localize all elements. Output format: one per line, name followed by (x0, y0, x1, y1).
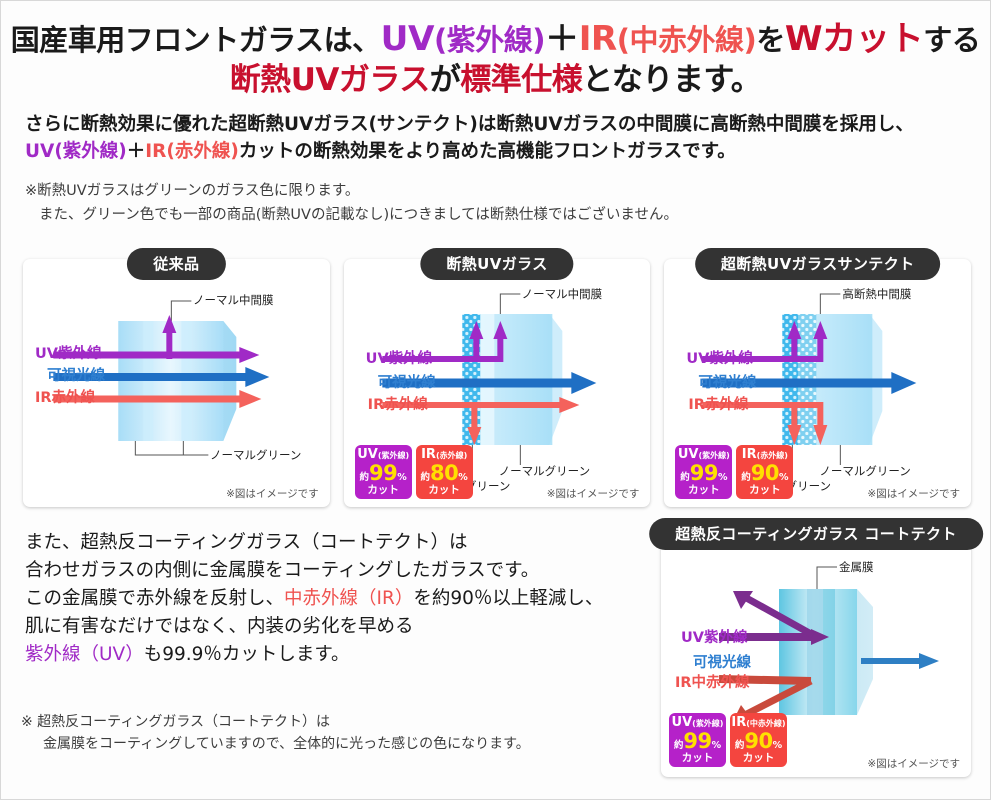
coattect-line-2: 合わせガラスの内側に金属膜をコーティングしたガラスです。 (25, 557, 655, 585)
badge-uv-head-suntect: UV(紫外線) (675, 448, 732, 461)
badge-ir-suntect: IR(赤外線) 約90% カット (736, 445, 793, 500)
coattect-description: また、超熱反コーティングガラス（コートテクト）は 合わせガラスの内側に金属膜をコ… (25, 529, 655, 670)
card-suntect: 超断熱UVガラスサンテクト (664, 259, 971, 507)
headline-line-1-run-7: Wカット (785, 19, 923, 59)
top-note-line-1: ※断熱UVガラスはグリーンのガラス色に限ります。 (25, 183, 359, 199)
headline-line-1-run-0: 国産車用フロントガラスは、 (11, 23, 381, 57)
badges-suntect: UV(紫外線) 約99% カット IR(赤外線) 約90% カット (675, 445, 793, 500)
badge-uv-value-uvcut: 約99% (355, 463, 412, 484)
label-visible-coattect: 可視光線 (693, 651, 751, 672)
subhead-ir-term: IR(赤外線) (145, 141, 239, 162)
label-high-interlayer-suntect: 高断熱中間膜 (842, 286, 911, 302)
badge-ir-uvcut: IR(赤外線) 約80% カット (416, 445, 473, 500)
badge-uv-bottom-coattect: カット (669, 753, 726, 764)
top-note-line-2: また、グリーン色でも一部の商品(断熱UVの記載なし)につきましては断熱仕様ではご… (25, 204, 990, 228)
badge-uv-uvcut: UV(紫外線) 約99% カット (355, 445, 412, 500)
headline-line-1-run-5: (中赤外線) (617, 23, 757, 57)
subhead-rest: カットの断熱効果をより高めた高機能フロントガラスです。 (239, 141, 736, 162)
subhead: さらに断熱効果に優れた超断熱UVガラス(サンテクト)は断熱UVガラスの中間膜に高… (25, 112, 990, 166)
headline-line-2-run-3: となります。 (582, 62, 761, 98)
label-uv-coattect: UV紫外線 (681, 626, 748, 647)
headline-line-1-run-4: IR (579, 19, 617, 59)
coattect-line-5: 紫外線（UV）も99.9％カットします。 (25, 641, 655, 669)
coattect-note: ※ 超熱反コーティングガラス（コートテクト）は 金属膜をコーティングしていますの… (21, 711, 530, 756)
top-note: ※断熱UVガラスはグリーンのガラス色に限ります。 また、グリーン色でも一部の商品… (25, 180, 990, 228)
label-visible-uvcut: 可視光線 (378, 371, 436, 392)
coattect-note-line-2: 金属膜をコーティングしていますので、全体的に光った感じの色になります。 (21, 733, 530, 755)
badge-ir-head-uvcut: IR(赤外線) (416, 448, 473, 461)
coattect-line-1: また、超熱反コーティングガラス（コートテクト）は (25, 529, 655, 557)
label-normal-interlayer-uvcut: ノーマル中間膜 (522, 286, 603, 302)
badge-ir-head-suntect: IR(赤外線) (736, 448, 793, 461)
image-note-uvcut: ※図はイメージです (547, 486, 640, 501)
badges-uvcut: UV(紫外線) 約99% カット IR(赤外線) 約80% カット (355, 445, 473, 500)
badge-uv-coattect: UV(紫外線) 約99% カット (669, 713, 726, 768)
headline-line-1-run-2: (紫外線) (434, 23, 545, 57)
badge-ir-value-coattect: 約90% (730, 731, 787, 752)
headline-line-2-run-0: 断熱UVガラス (230, 62, 430, 98)
headline-line-1-run-8: する (923, 23, 980, 57)
headline-line-1-run-6: を (756, 23, 785, 57)
card-conventional: 従来品 (23, 259, 330, 507)
subhead-line-2: UV(紫外線)＋IR(赤外線)カットの断熱効果をより高めた高機能フロントガラスで… (25, 139, 990, 166)
coattect-line-3: この金属膜で赤外線を反射し、中赤外線（IR）を約90％以上軽減し、 (25, 585, 655, 613)
label-uv-uvcut: UV紫外線 (366, 347, 433, 368)
badge-uv-bottom-uvcut: カット (355, 485, 412, 496)
comparison-cards: 従来品 (23, 259, 971, 507)
subhead-line-1: さらに断熱効果に優れた超断熱UVガラス(サンテクト)は断熱UVガラスの中間膜に高… (25, 112, 990, 139)
headline-line-2-run-1: が (430, 62, 461, 98)
label-normal-green-conventional: ノーマルグリーン (210, 447, 301, 463)
label-visible-suntect: 可視光線 (698, 371, 756, 392)
image-note-coattect: ※図はイメージです (867, 756, 960, 771)
badge-ir-bottom-suntect: カット (736, 485, 793, 496)
image-note-suntect: ※図はイメージです (867, 486, 960, 501)
badge-uv-bottom-suntect: カット (675, 485, 732, 496)
headline-line-1-run-3: ＋ (545, 19, 579, 59)
card-body-coattect: UV紫外線 可視光線 IR中赤外線 金属膜 UV(紫外線) 約99% カット I… (661, 529, 971, 777)
badge-ir-value-uvcut: 約80% (416, 463, 473, 484)
label-ir-conventional: IR赤外線 (35, 386, 95, 407)
card-uvcut: 断熱UVガラス (344, 259, 651, 507)
card-body-conventional: UV紫外線 可視光線 IR赤外線 ノーマル中間膜 ノーマルグリーン ※図はイメー… (23, 259, 330, 507)
label-ir-suntect: IR赤外線 (688, 393, 748, 414)
headline: 国産車用フロントガラスは、UV(紫外線)＋IR(中赤外線)をWカットする 断熱U… (1, 1, 990, 99)
label-normal-green-uvcut: ノーマルグリーン (499, 463, 590, 479)
headline-line-2-run-2: 標準仕様 (460, 62, 582, 98)
badges-coattect: UV(紫外線) 約99% カット IR(中赤外線) 約90% カット (669, 713, 787, 768)
badge-uv-suntect: UV(紫外線) 約99% カット (675, 445, 732, 500)
headline-line-1: 国産車用フロントガラスは、UV(紫外線)＋IR(中赤外線)をWカットする (1, 19, 990, 59)
headline-line-2: 断熱UVガラスが標準仕様となります。 (1, 62, 990, 99)
coattect-note-line-1: ※ 超熱反コーティングガラス（コートテクト）は (21, 714, 330, 730)
label-uv-suntect: UV紫外線 (686, 347, 753, 368)
headline-line-1-run-1: UV (381, 19, 434, 59)
infographic-page: 国産車用フロントガラスは、UV(紫外線)＋IR(中赤外線)をWカットする 断熱U… (0, 0, 991, 800)
badge-uv-value-suntect: 約99% (675, 463, 732, 484)
label-ir-uvcut: IR赤外線 (368, 393, 428, 414)
label-metal-film-coattect: 金属膜 (839, 559, 874, 575)
badge-ir-coattect: IR(中赤外線) 約90% カット (730, 713, 787, 768)
badge-ir-bottom-coattect: カット (730, 753, 787, 764)
label-normal-green-suntect: ノーマルグリーン (819, 463, 910, 479)
subhead-uv-term: UV(紫外線) (25, 141, 127, 162)
card-body-suntect: UV紫外線 可視光線 IR赤外線 高断熱中間膜 ノーマルグリーン 断熱UVグリー… (664, 259, 971, 507)
coattect-uv-term: 紫外線（UV） (25, 644, 144, 665)
coattect-line-4: 肌に有害なだけではなく、内装の劣化を早める (25, 613, 655, 641)
badge-uv-value-coattect: 約99% (669, 731, 726, 752)
label-uv-conventional: UV紫外線 (35, 342, 102, 363)
image-note-conventional: ※図はイメージです (226, 486, 319, 501)
card-coattect: 超熱反コーティングガラス コートテクト (661, 529, 971, 777)
label-visible-conventional: 可視光線 (47, 364, 105, 385)
badge-ir-bottom-uvcut: カット (416, 485, 473, 496)
label-ir-mid-coattect: IR中赤外線 (675, 671, 750, 692)
label-normal-interlayer-conventional: ノーマル中間膜 (193, 292, 274, 308)
badge-ir-head-coattect: IR(中赤外線) (730, 716, 787, 729)
badge-uv-head-uvcut: UV(紫外線) (355, 448, 412, 461)
subhead-plus: ＋ (127, 141, 146, 162)
badge-ir-value-suntect: 約90% (736, 463, 793, 484)
coattect-ir-term: 中赤外線（IR） (284, 588, 413, 609)
card-body-uvcut: UV紫外線 可視光線 IR赤外線 ノーマル中間膜 ノーマルグリーン 断熱UVグリ… (344, 259, 651, 507)
badge-uv-head-coattect: UV(紫外線) (669, 716, 726, 729)
